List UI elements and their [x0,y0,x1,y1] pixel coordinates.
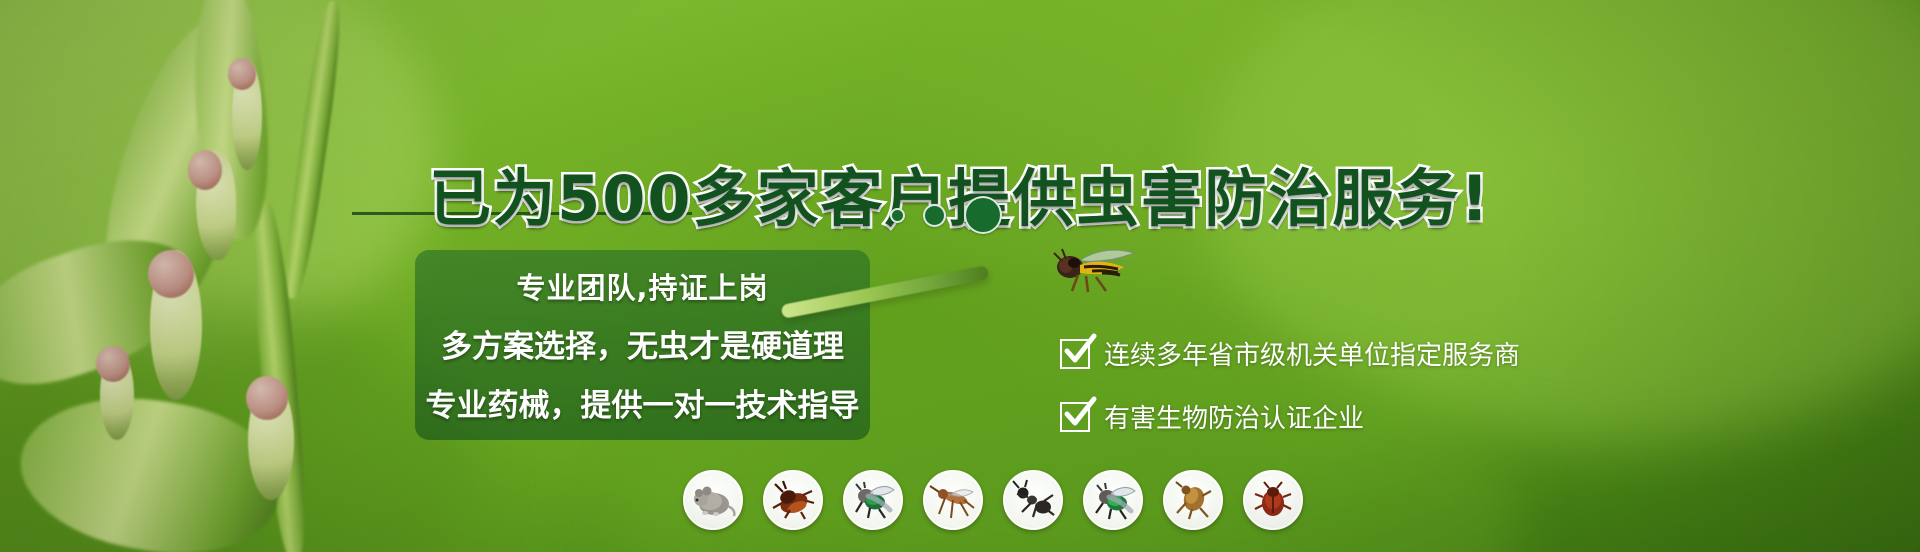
vignette-overlay [0,0,1920,552]
promo-banner: 已为500多家客户提供虫害防治服务! 已为500多家客户提供虫害防治服务! 专业… [0,0,1920,552]
